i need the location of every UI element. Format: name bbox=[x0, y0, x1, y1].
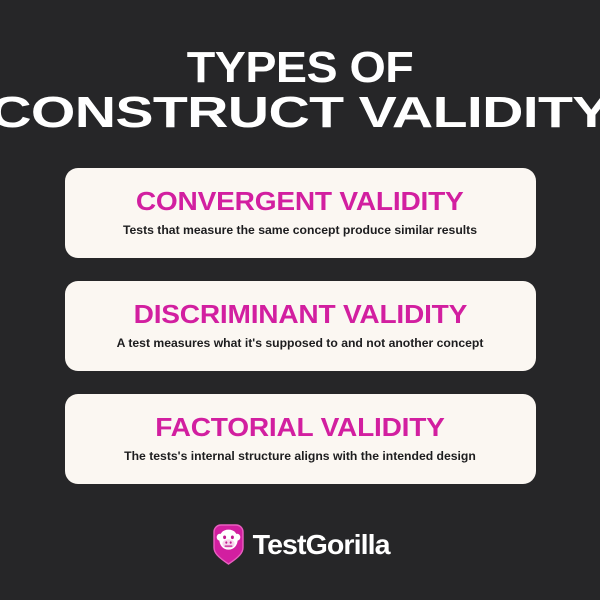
page-title-line-1: TYPES OF bbox=[0, 46, 600, 89]
card-title: FACTORIAL VALIDITY bbox=[155, 414, 444, 440]
card-title: CONVERGENT VALIDITY bbox=[136, 188, 464, 214]
brand-wordmark: TestGorilla bbox=[253, 531, 390, 559]
gorilla-shield-icon bbox=[212, 524, 245, 565]
card-title: DISCRIMINANT VALIDITY bbox=[133, 301, 466, 327]
card-description: The tests's internal structure aligns wi… bbox=[124, 449, 476, 464]
page-title-line-2: CONSTRUCT VALIDITY bbox=[0, 91, 600, 134]
validity-card-list: CONVERGENT VALIDITY Tests that measure t… bbox=[65, 168, 536, 484]
validity-card-discriminant: DISCRIMINANT VALIDITY A test measures wh… bbox=[65, 281, 536, 371]
card-description: A test measures what it's supposed to an… bbox=[117, 336, 484, 351]
card-description: Tests that measure the same concept prod… bbox=[123, 223, 477, 238]
brand-logo: TestGorilla bbox=[212, 524, 388, 565]
poster: TYPES OF CONSTRUCT VALIDITY CONVERGENT V… bbox=[0, 0, 600, 600]
validity-card-factorial: FACTORIAL VALIDITY The tests's internal … bbox=[65, 394, 536, 484]
page-title: TYPES OF CONSTRUCT VALIDITY bbox=[0, 46, 600, 134]
validity-card-convergent: CONVERGENT VALIDITY Tests that measure t… bbox=[65, 168, 536, 258]
